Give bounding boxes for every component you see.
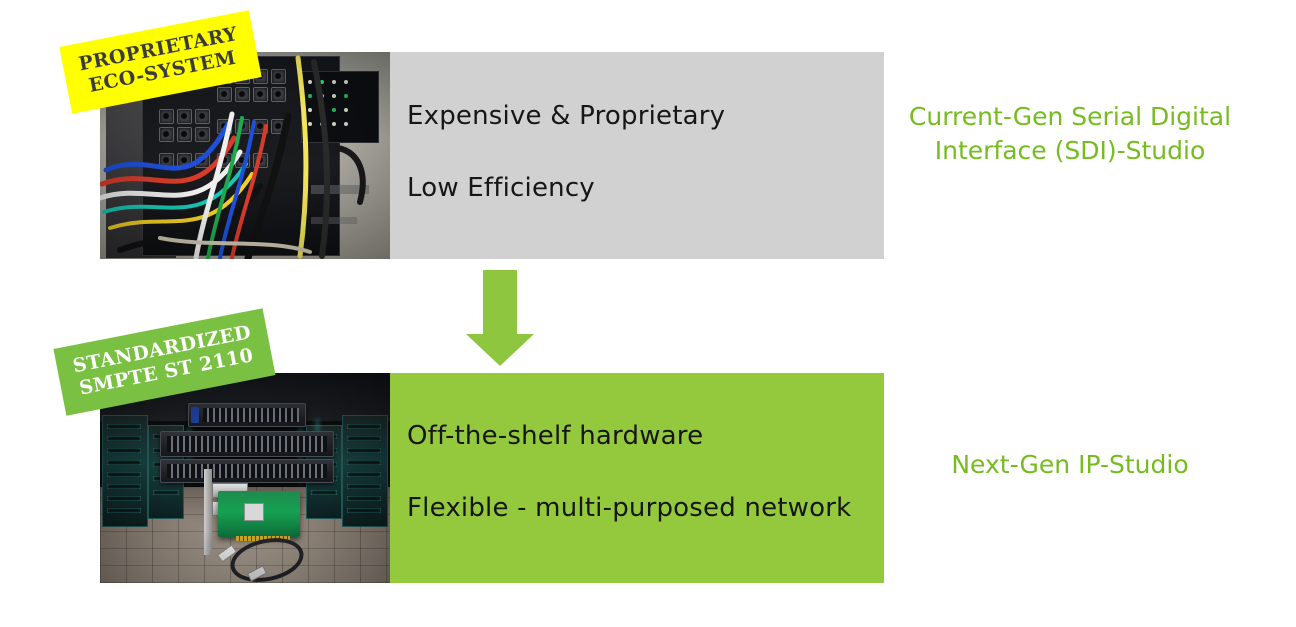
next-gen-side-label-line-1: Next-Gen IP-Studio (900, 448, 1240, 482)
next-gen-bullet-1: Off-the-shelf hardware (407, 421, 703, 451)
current-gen-bullet-2: Low Efficiency (407, 173, 595, 203)
arrow-head (466, 334, 534, 366)
next-gen-bullets: Off-the-shelf hardware Flexible - multi-… (407, 373, 877, 583)
current-gen-side-label: Current-Gen Serial Digital Interface (SD… (900, 100, 1240, 168)
current-gen-side-label-line-2: Interface (SDI)-Studio (900, 134, 1240, 168)
data-center-photo (100, 373, 390, 583)
slide-canvas: Expensive & Proprietary Low Efficiency P… (0, 0, 1296, 627)
photo-vignette-bottom (100, 373, 390, 583)
current-gen-side-label-line-1: Current-Gen Serial Digital (900, 100, 1240, 134)
arrow-shaft (483, 270, 517, 336)
next-gen-side-label: Next-Gen IP-Studio (900, 448, 1240, 482)
current-gen-bullets: Expensive & Proprietary Low Efficiency (407, 52, 877, 259)
current-gen-bullet-1: Expensive & Proprietary (407, 101, 725, 131)
down-arrow-icon (466, 270, 534, 366)
next-gen-bullet-2: Flexible - multi-purposed network (407, 493, 851, 523)
